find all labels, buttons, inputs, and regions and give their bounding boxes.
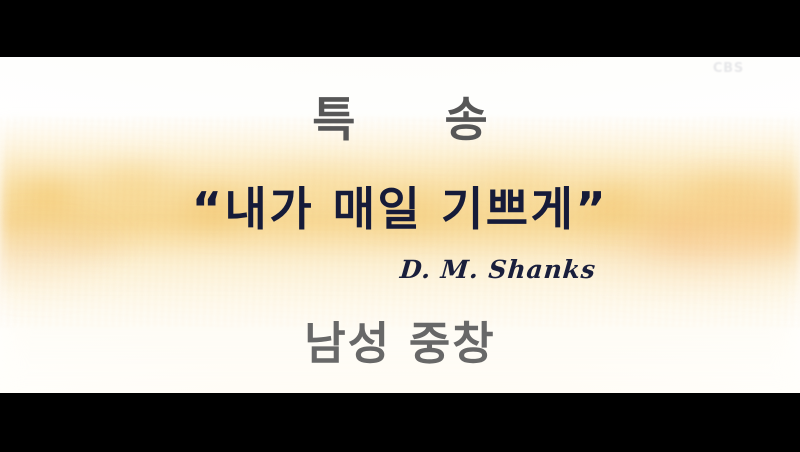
slide-text-layer: 특 송 “내가 매일 기쁘게” D. M. Shanks 남성 중창 — [0, 57, 800, 393]
letterbox-bar-top — [0, 0, 800, 57]
song-title: “내가 매일 기쁘게” — [0, 186, 800, 232]
presentation-slide: 특 송 “내가 매일 기쁘게” D. M. Shanks 남성 중창 CBS — [0, 57, 800, 393]
ensemble-label: 남성 중창 — [0, 321, 800, 366]
letterbox-bar-bottom — [0, 393, 800, 452]
video-frame: 특 송 “내가 매일 기쁘게” D. M. Shanks 남성 중창 CBS — [0, 0, 800, 452]
channel-watermark: CBS — [713, 61, 744, 76]
program-heading: 특 송 — [0, 97, 800, 144]
composer-credit: D. M. Shanks — [0, 257, 800, 282]
